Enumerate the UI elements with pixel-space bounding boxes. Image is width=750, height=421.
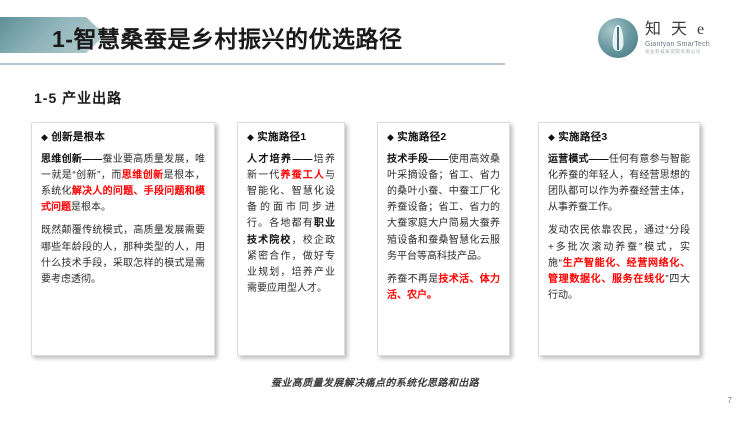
diamond-bullet-icon: ◆ [387, 132, 394, 142]
body-text: 既然颠覆传统模式，高质量发展需要哪些年龄段的人，那种类型的人，用什么技术手段，采… [41, 225, 205, 285]
card-body: 人才培养——培养新一代养蚕工人与智能化、智慧化设备的面市同步进行。各地都有职业技… [247, 152, 335, 298]
slide-caption: 蚕业高质量发展解决痛点的系统化思路和出路 [0, 374, 750, 389]
diamond-bullet-icon: ◆ [548, 132, 555, 142]
card-innovation: ◆创新是根本 思维创新——蚕业要高质量发展，唯一就是“创新”，而思维创新是根本，… [31, 122, 215, 356]
card-heading-label: 创新是根本 [51, 131, 105, 143]
card-body: 运营模式——任何有意参与智能化养蚕的年轻人，有经营思想的团队都可以作为养蚕经营主… [548, 152, 690, 305]
card-group: ◆创新是根本 思维创新——蚕业要高质量发展，唯一就是“创新”，而思维创新是根本，… [0, 122, 750, 358]
logo-leaf-icon [598, 18, 638, 58]
brand-logo: 知 天 e Giantyan SmarTech 农业科技研究院有限公司 [598, 12, 738, 64]
header-divider [0, 63, 505, 65]
section-heading: 1-5 产业出路 [34, 88, 122, 108]
card-heading: ◆实施路径2 [387, 131, 500, 145]
logo-chinese-name: 知 天 e [645, 22, 710, 39]
diamond-bullet-icon: ◆ [247, 132, 254, 142]
card-paragraph: 既然颠覆传统模式，高质量发展需要哪些年龄段的人，那种类型的人，用什么技术手段，采… [41, 223, 205, 288]
logo-text-block: 知 天 e Giantyan SmarTech 农业科技研究院有限公司 [645, 22, 710, 54]
card-heading-label: 实施路径2 [397, 131, 446, 143]
card-heading: ◆创新是根本 [41, 131, 205, 145]
page-number: 7 [728, 396, 732, 405]
card-paragraph: 思维创新——蚕业要高质量发展，唯一就是“创新”，而思维创新是根本，系统化解决人的… [41, 152, 205, 217]
card-paragraph: 人才培养——培养新一代养蚕工人与智能化、智慧化设备的面市同步进行。各地都有职业技… [247, 152, 335, 298]
card-heading-label: 实施路径3 [558, 131, 607, 143]
card-paragraph: 发动农民依靠农民，通过“分段+多批次滚动养蚕”模式，实施“生产智能化、经营网络化… [548, 223, 690, 304]
page-title: 1-智慧桑蚕是乡村振兴的优选路径 [52, 20, 402, 54]
logo-english-name: Giantyan SmarTech [645, 41, 710, 48]
card-paragraph: 运营模式——任何有意参与智能化养蚕的年轻人，有经营思想的团队都可以作为养蚕经营主… [548, 152, 690, 217]
emphasis-text: 思维创新—— [41, 154, 102, 165]
card-body: 技术手段——使用高效桑叶采摘设备；省工、省力的桑叶小蚕、中蚕工厂化养蚕设备；省工… [387, 152, 500, 305]
card-path-1: ◆实施路径1 人才培养——培养新一代养蚕工人与智能化、智慧化设备的面市同步进行。… [237, 122, 345, 356]
body-text: 是根本。 [71, 202, 111, 213]
highlighted-text: 养蚕工人 [280, 170, 325, 181]
emphasis-text: 运营模式—— [548, 154, 609, 165]
card-path-3: ◆实施路径3 运营模式——任何有意参与智能化养蚕的年轻人，有经营思想的团队都可以… [538, 122, 700, 356]
card-paragraph: 技术手段——使用高效桑叶采摘设备；省工、省力的桑叶小蚕、中蚕工厂化养蚕设备；省工… [387, 152, 500, 265]
card-paragraph: 养蚕不再是技术活、体力活、农户。 [387, 272, 500, 304]
highlighted-text: 思维创新 [122, 170, 164, 181]
card-heading: ◆实施路径1 [247, 131, 335, 145]
card-body: 思维创新——蚕业要高质量发展，唯一就是“创新”，而思维创新是根本，系统化解决人的… [41, 152, 205, 289]
logo-subtitle: 农业科技研究院有限公司 [645, 50, 710, 55]
body-text: 养蚕不再是 [387, 274, 439, 285]
card-heading-label: 实施路径1 [257, 131, 306, 143]
emphasis-text: 人才培养—— [247, 154, 312, 165]
body-text: 使用高效桑叶采摘设备；省工、省力的桑叶小蚕、中蚕工厂化养蚕设备；省工、省力的大蚕… [387, 154, 500, 262]
emphasis-text: 技术手段—— [387, 154, 448, 165]
diamond-bullet-icon: ◆ [41, 132, 48, 142]
slide-root: 1-智慧桑蚕是乡村振兴的优选路径 知 天 e Giantyan SmarTech… [0, 0, 750, 421]
card-heading: ◆实施路径3 [548, 131, 690, 145]
card-path-2: ◆实施路径2 技术手段——使用高效桑叶采摘设备；省工、省力的桑叶小蚕、中蚕工厂化… [377, 122, 510, 356]
